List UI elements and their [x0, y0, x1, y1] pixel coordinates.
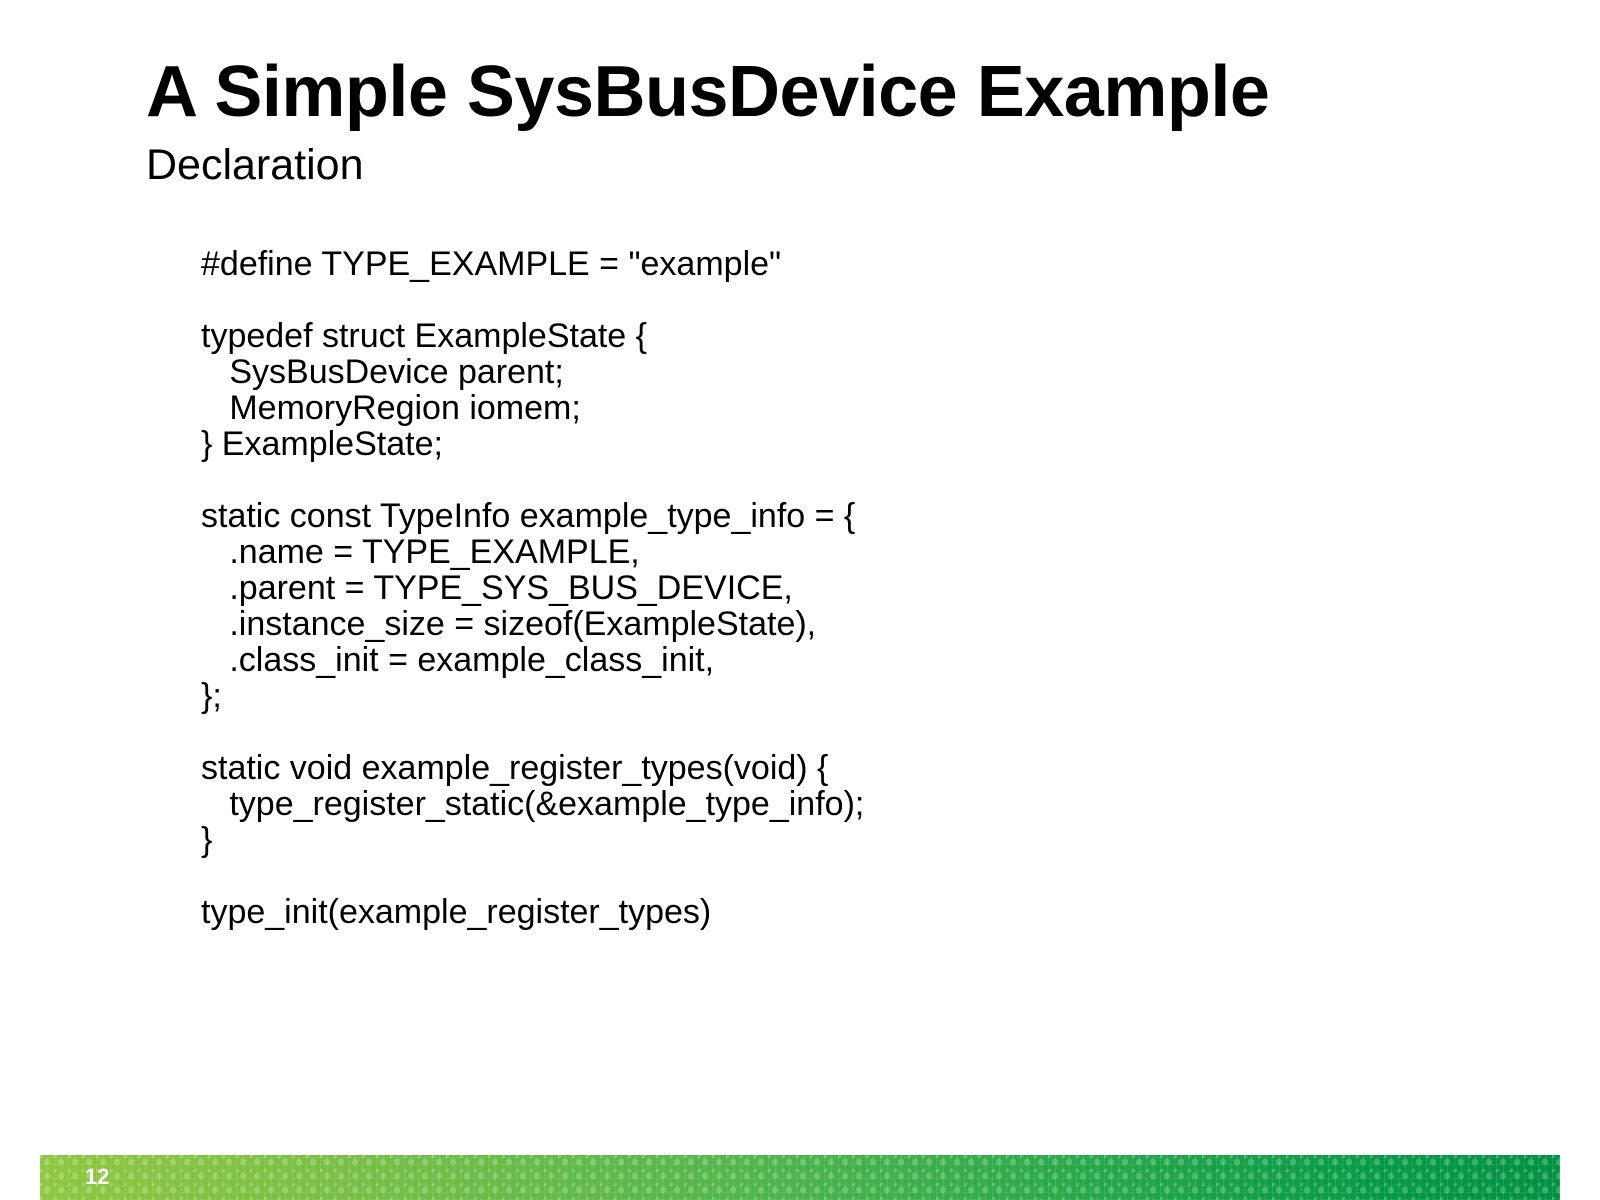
footer-bar: 12 — [40, 1155, 1560, 1200]
code-line: #define TYPE_EXAMPLE = "example" — [201, 246, 1451, 282]
code-line-blank — [201, 462, 1451, 498]
code-line: type_register_static(&example_type_info)… — [201, 786, 1451, 822]
code-line: .name = TYPE_EXAMPLE, — [201, 534, 1451, 570]
code-line-blank — [201, 858, 1451, 894]
title-block: A Simple SysBusDevice Example Declaratio… — [146, 56, 1476, 189]
code-line-blank — [201, 714, 1451, 750]
page-title: A Simple SysBusDevice Example — [146, 56, 1476, 129]
code-listing: #define TYPE_EXAMPLE = "example" typedef… — [201, 246, 1451, 930]
code-line: .parent = TYPE_SYS_BUS_DEVICE, — [201, 570, 1451, 606]
code-line: typedef struct ExampleState { — [201, 318, 1451, 354]
code-line: static void example_register_types(void)… — [201, 750, 1451, 786]
code-line: .class_init = example_class_init, — [201, 642, 1451, 678]
code-line: static const TypeInfo example_type_info … — [201, 498, 1451, 534]
footer-texture-overlay — [40, 1155, 1560, 1200]
slide: A Simple SysBusDevice Example Declaratio… — [0, 0, 1600, 1200]
code-line: .instance_size = sizeof(ExampleState), — [201, 606, 1451, 642]
code-line: } — [201, 822, 1451, 858]
code-line: }; — [201, 678, 1451, 714]
code-line: MemoryRegion iomem; — [201, 390, 1451, 426]
code-line-blank — [201, 282, 1451, 318]
page-subtitle: Declaration — [146, 143, 1476, 188]
code-line: type_init(example_register_types) — [201, 894, 1451, 930]
code-line: SysBusDevice parent; — [201, 354, 1451, 390]
page-number: 12 — [85, 1166, 109, 1188]
code-line: } ExampleState; — [201, 426, 1451, 462]
